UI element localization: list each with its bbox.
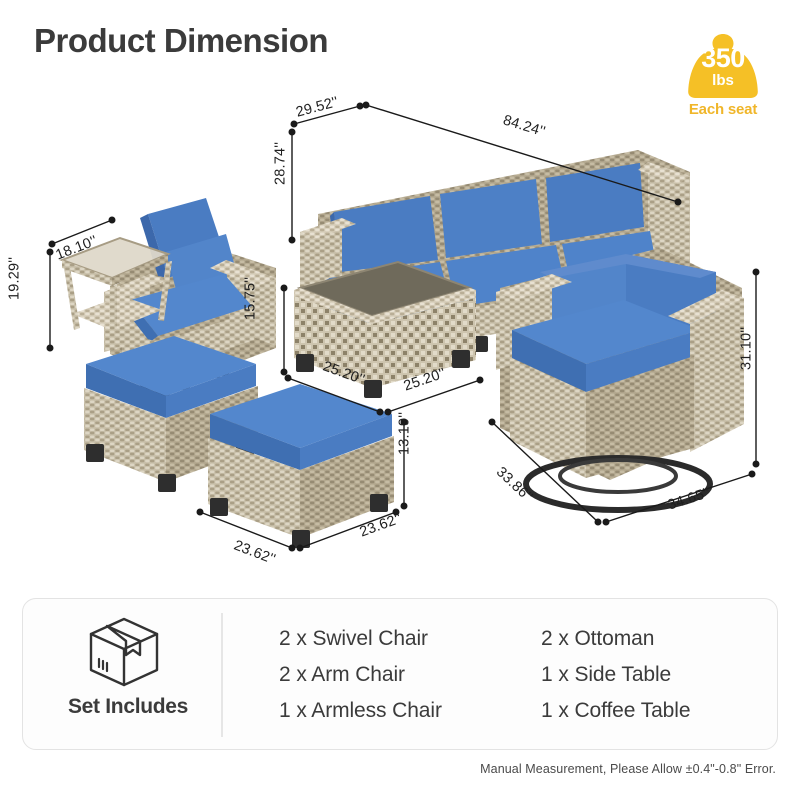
set-includes-item: 2 x Ottoman	[541, 621, 690, 657]
footer-disclaimer: Manual Measurement, Please Allow ±0.4"-0…	[480, 762, 776, 776]
dim-label-side-table-height: 19.29''	[6, 257, 22, 300]
dim-label-swivel-chair-height: 31.10''	[738, 327, 754, 370]
weight-value: 350	[682, 45, 764, 72]
set-includes-column-left: 2 x Swivel Chair 2 x Arm Chair 1 x Armle…	[279, 621, 442, 729]
dim-label-ottoman-height: 13.19''	[396, 412, 412, 455]
set-includes-label: Set Includes	[45, 695, 211, 719]
set-includes-item: 1 x Side Table	[541, 657, 690, 693]
set-includes-item: 2 x Swivel Chair	[279, 621, 442, 657]
set-includes-panel: Set Includes 2 x Swivel Chair 2 x Arm Ch…	[22, 598, 778, 750]
page-title: Product Dimension	[34, 22, 328, 60]
set-includes-item: 2 x Arm Chair	[279, 657, 442, 693]
weight-unit: lbs	[682, 73, 764, 88]
dim-label-sofa-height: 28.74''	[272, 142, 288, 185]
coffee-table-illustration	[294, 262, 476, 398]
set-includes-item: 1 x Coffee Table	[541, 693, 690, 729]
dim-label-coffee-table-height: 15.75''	[242, 277, 258, 320]
swivel-chair-illustration	[496, 248, 744, 510]
package-box-icon	[85, 615, 163, 689]
set-includes-column-right: 2 x Ottoman 1 x Side Table 1 x Coffee Ta…	[541, 621, 690, 729]
set-includes-item: 1 x Armless Chair	[279, 693, 442, 729]
panel-divider	[221, 613, 223, 737]
